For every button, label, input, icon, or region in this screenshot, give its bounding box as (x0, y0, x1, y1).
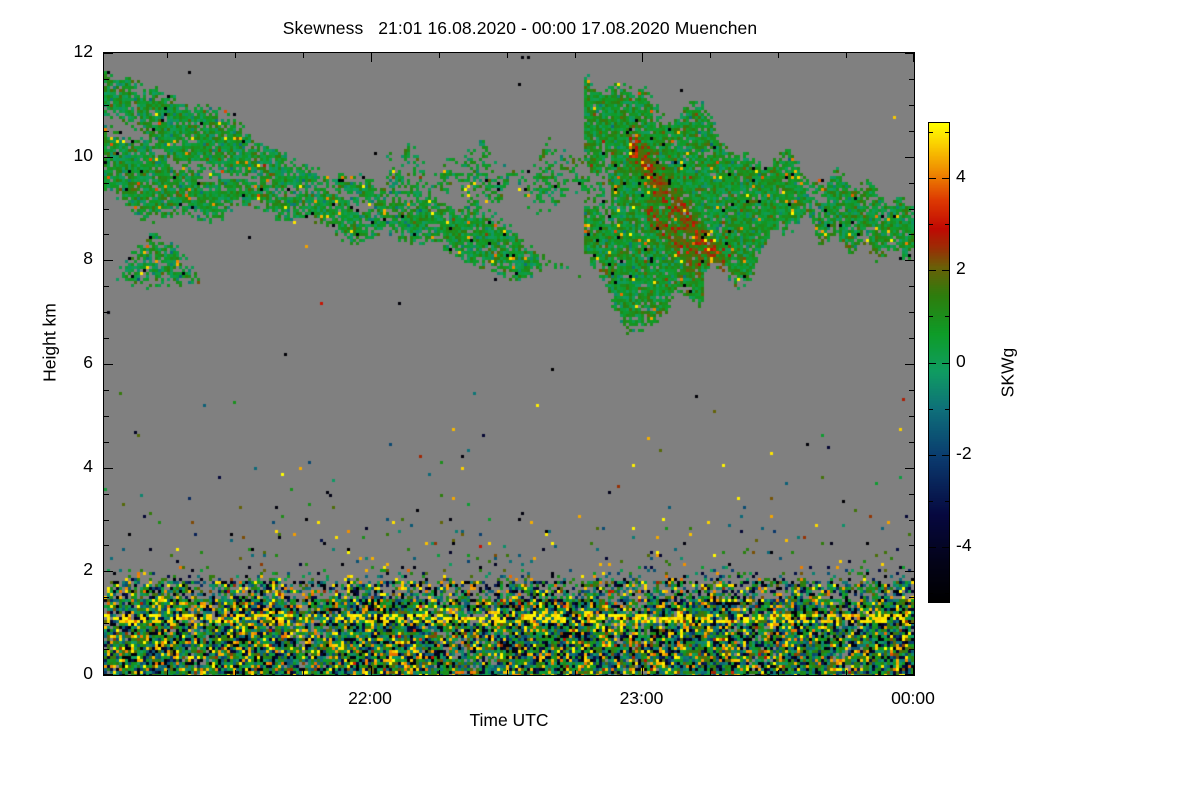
y-tick-5.5 (104, 390, 109, 391)
y-tick-right-9.5 (909, 183, 914, 184)
y-tick-2 (104, 571, 113, 572)
y-tick-right-4 (905, 468, 914, 469)
y-tick-right-7 (909, 312, 914, 313)
y-tick-right-11 (909, 105, 914, 106)
y-tick-right-7.5 (909, 286, 914, 287)
colorbar-tick-left--1 (929, 409, 933, 410)
y-tick-7.5 (104, 286, 109, 287)
colorbar-tick-left--3 (929, 501, 933, 502)
x-tick-label-00:00: 00:00 (853, 688, 973, 709)
y-tick-right-8 (905, 260, 914, 261)
x-tick-top-21.25 (167, 53, 168, 58)
colorbar-tick-left-3 (929, 224, 933, 225)
y-tick-right-1.5 (909, 597, 914, 598)
colorbar-tick--4 (942, 547, 949, 548)
colorbar-tick-left--2 (929, 455, 936, 456)
colorbar-tick--2 (942, 455, 949, 456)
x-tick-top-23.25 (710, 53, 711, 58)
x-tick-21.5 (235, 670, 236, 675)
colorbar-tick-label--2: -2 (956, 443, 996, 464)
x-tick-top-21.5 (235, 53, 236, 58)
y-tick-right-2.5 (909, 545, 914, 546)
colorbar-tick--5 (945, 593, 949, 594)
y-tick-right-1 (909, 623, 914, 624)
y-tick-11.5 (104, 79, 109, 80)
colorbar-tick-left-2 (929, 270, 936, 271)
y-tick-right-11.5 (909, 79, 914, 80)
x-tick-label-22:00: 22:00 (310, 688, 430, 709)
colorbar-tick--3 (945, 501, 949, 502)
x-tick-top-22.5 (507, 53, 508, 58)
x-tick-22.25 (439, 670, 440, 675)
y-tick-2.5 (104, 545, 109, 546)
figure-root: Skewness 21:01 16.08.2020 - 00:00 17.08.… (0, 0, 1200, 800)
colorbar-tick-left-0 (929, 363, 936, 364)
x-tick-top-24 (913, 53, 914, 62)
y-tick-0 (104, 674, 113, 675)
colorbar-tick-4 (942, 178, 949, 179)
y-tick-right-3 (909, 520, 914, 521)
y-tick-label-2: 2 (7, 559, 93, 580)
y-tick-10.5 (104, 131, 109, 132)
heatmap-data-canvas (104, 53, 914, 675)
x-tick-top-22 (371, 53, 372, 62)
x-tick-top-23.75 (846, 53, 847, 58)
y-tick-1 (104, 623, 109, 624)
y-tick-4 (104, 468, 113, 469)
colorbar-tick-left-4 (929, 178, 936, 179)
y-tick-4.5 (104, 442, 109, 443)
colorbar-tick-0 (942, 363, 949, 364)
colorbar-tick-label-4: 4 (956, 166, 996, 187)
y-tick-8 (104, 260, 113, 261)
y-tick-1.5 (104, 597, 109, 598)
y-tick-3 (104, 520, 109, 521)
colorbar-tick-3 (945, 224, 949, 225)
colorbar-tick-2 (942, 270, 949, 271)
x-tick-23.5 (778, 670, 779, 675)
x-tick-22 (371, 666, 372, 675)
x-tick-top-23 (642, 53, 643, 62)
y-tick-right-10 (905, 157, 914, 158)
page-title: Skewness 21:01 16.08.2020 - 00:00 17.08.… (0, 18, 1040, 39)
colorbar-tick--1 (945, 409, 949, 410)
y-tick-right-6 (905, 364, 914, 365)
colorbar-tick-label-2: 2 (956, 258, 996, 279)
y-tick-right-2 (905, 571, 914, 572)
x-tick-23.75 (846, 670, 847, 675)
x-axis-title: Time UTC (103, 710, 915, 731)
colorbar-tick-left-5 (929, 132, 933, 133)
y-tick-right-8.5 (909, 234, 914, 235)
y-tick-label-12: 12 (7, 41, 93, 62)
y-axis-title: Height km (40, 263, 61, 423)
colorbar-tick-label--4: -4 (956, 535, 996, 556)
y-tick-12 (104, 53, 113, 54)
x-tick-21.25 (167, 670, 168, 675)
y-tick-7 (104, 312, 109, 313)
colorbar-tick-label-0: 0 (956, 351, 996, 372)
x-tick-21.75 (303, 670, 304, 675)
plot-axes (103, 52, 915, 676)
y-tick-6 (104, 364, 113, 365)
y-tick-9 (104, 209, 109, 210)
x-tick-top-22.75 (575, 53, 576, 58)
y-tick-10 (104, 157, 113, 158)
y-tick-label-4: 4 (7, 456, 93, 477)
y-tick-label-0: 0 (7, 663, 93, 684)
colorbar-tick-1 (945, 316, 949, 317)
x-tick-22.5 (507, 670, 508, 675)
y-tick-right-10.5 (909, 131, 914, 132)
colorbar-tick-left--4 (929, 547, 936, 548)
y-tick-right-6.5 (909, 338, 914, 339)
x-tick-label-23:00: 23:00 (581, 688, 701, 709)
colorbar-title: SKWg (998, 313, 1019, 433)
y-tick-right-4.5 (909, 442, 914, 443)
x-tick-top-22.25 (439, 53, 440, 58)
y-tick-right-0.5 (909, 649, 914, 650)
y-tick-9.5 (104, 183, 109, 184)
x-tick-top-21.75 (303, 53, 304, 58)
colorbar-tick-left-1 (929, 316, 933, 317)
x-tick-22.75 (575, 670, 576, 675)
y-tick-3.5 (104, 494, 109, 495)
y-tick-0.5 (104, 649, 109, 650)
y-tick-label-10: 10 (7, 145, 93, 166)
colorbar-tick-5 (945, 132, 949, 133)
x-tick-24 (913, 666, 914, 675)
y-tick-right-5.5 (909, 390, 914, 391)
y-tick-11 (104, 105, 109, 106)
y-tick-5 (104, 416, 109, 417)
colorbar (928, 122, 950, 603)
y-tick-8.5 (104, 234, 109, 235)
y-tick-right-3.5 (909, 494, 914, 495)
y-tick-right-9 (909, 209, 914, 210)
y-tick-6.5 (104, 338, 109, 339)
colorbar-tick-left--5 (929, 593, 933, 594)
x-tick-23 (642, 666, 643, 675)
x-tick-23.25 (710, 670, 711, 675)
x-tick-top-23.5 (778, 53, 779, 58)
y-tick-right-5 (909, 416, 914, 417)
